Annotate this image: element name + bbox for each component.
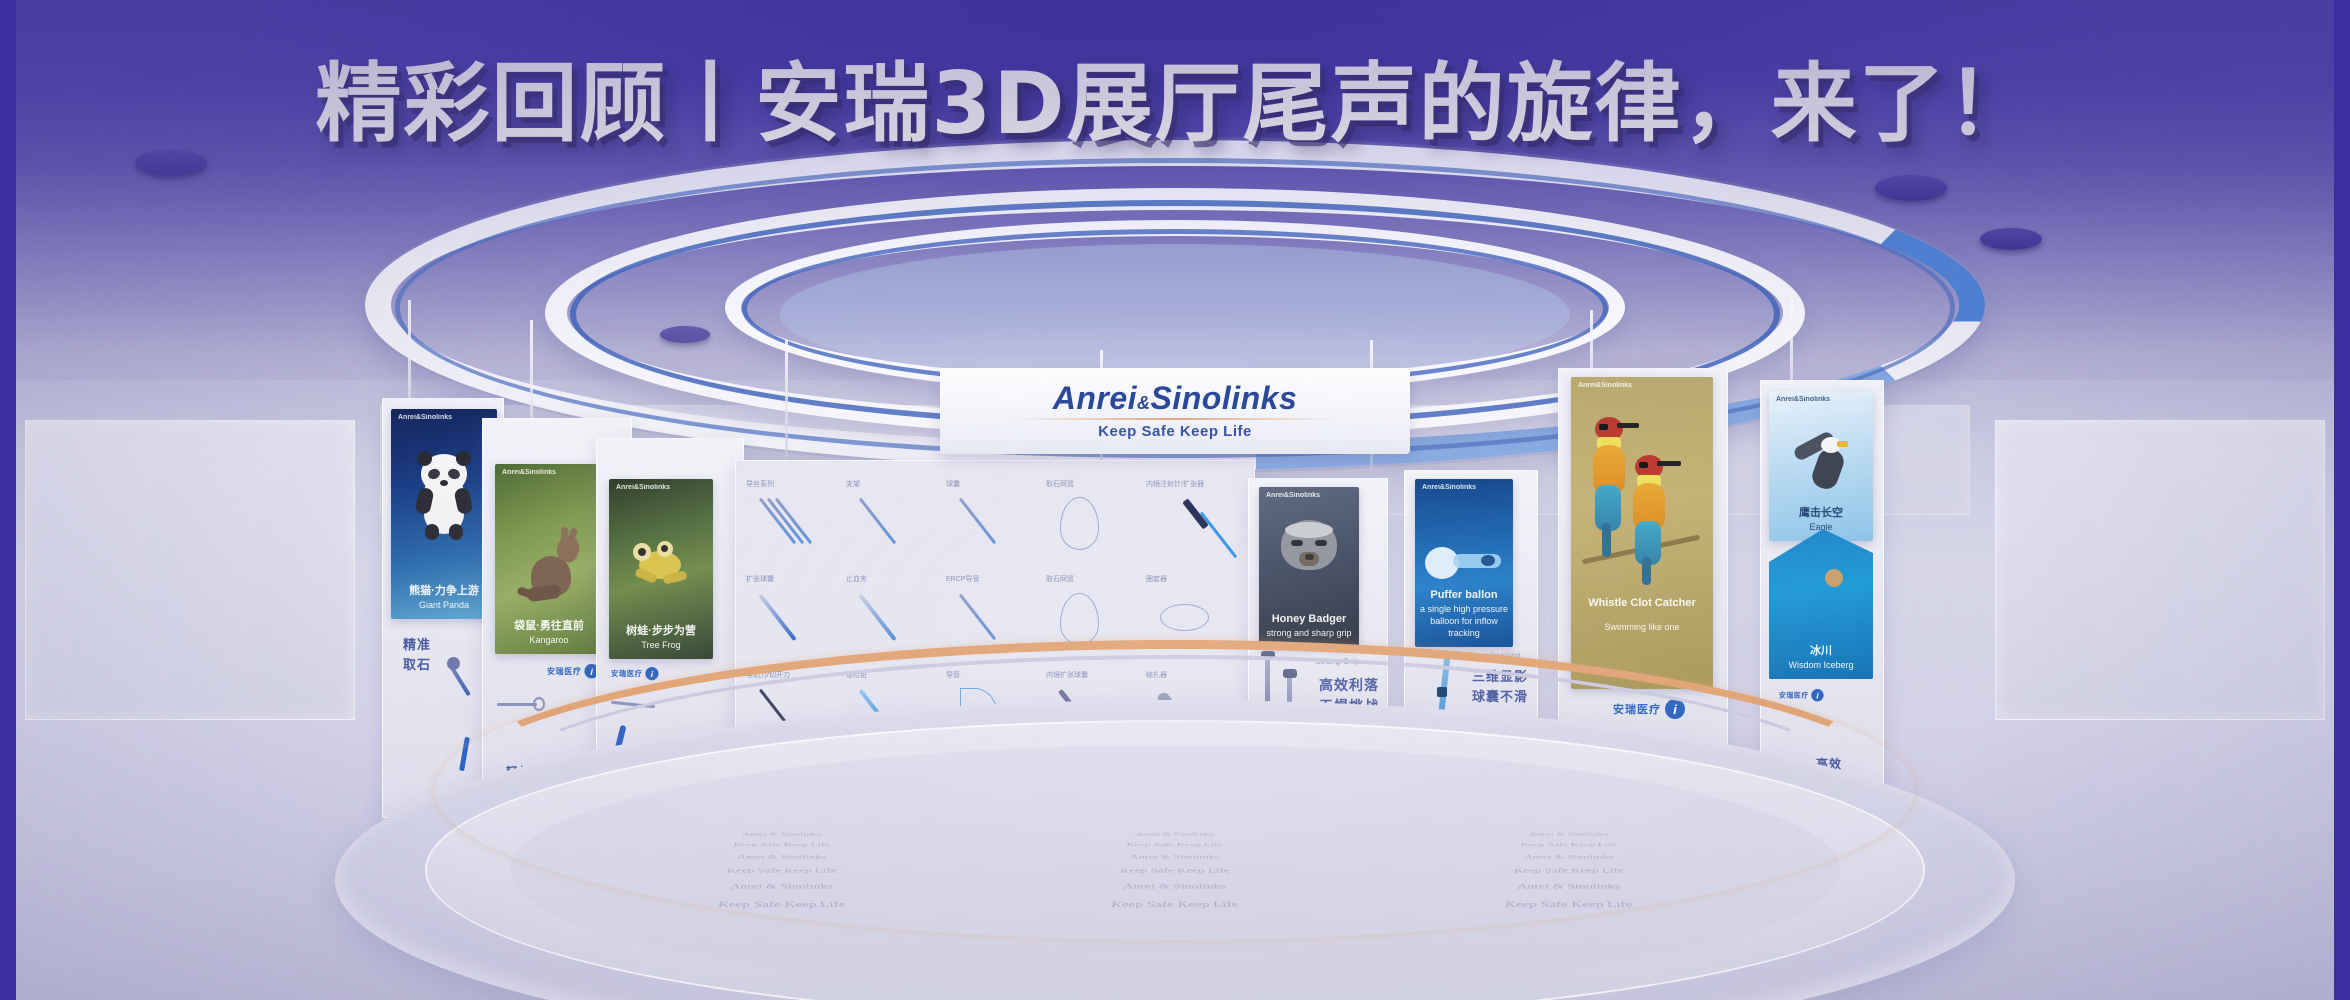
product-cell[interactable]: 球囊 xyxy=(946,473,1044,566)
brand-sign: Anrei&Sinolinks Keep Safe Keep Life xyxy=(940,368,1410,454)
product-caption: 内镜注射针/扩张器 xyxy=(1146,481,1204,488)
poster-frog[interactable]: Anrei&Sinolinks 树蛙·步步为营 Tree Frog xyxy=(609,479,713,659)
poster-subtitle-honey-badger: strong and sharp grip xyxy=(1259,627,1359,639)
product-device-icon xyxy=(960,497,1017,549)
bird-illustration-2 xyxy=(1627,455,1687,585)
poster-caption-puffer: Puffer ballon a single high pressure bal… xyxy=(1415,588,1513,639)
hanger-post-3 xyxy=(785,340,788,470)
poster-bee-eaters[interactable]: Anrei&Sinolinks xyxy=(1571,377,1713,689)
iceberg-sun xyxy=(1825,569,1843,587)
poster-brand-kangaroo: Anrei&Sinolinks xyxy=(502,469,556,476)
product-device-icon xyxy=(1185,497,1242,549)
info-badge-label-kangaroo: 安瑞医疗 xyxy=(547,665,582,677)
poster-caption-eagle: 鹰击长空 Eagle xyxy=(1769,506,1873,533)
product-device-icon xyxy=(860,593,917,645)
poster-kangaroo[interactable]: Anrei&Sinolinks 袋鼠·勇往直前 Kangaroo xyxy=(495,464,603,654)
left-border-strip xyxy=(0,0,16,1000)
info-badge-frog: 安瑞医疗 i xyxy=(611,667,659,680)
info-badge-label-eagle: 安瑞医疗 xyxy=(1779,690,1809,700)
product-device-icon xyxy=(1160,593,1217,645)
poster-caption-iceberg: 冰川 Wisdom Iceberg xyxy=(1769,644,1873,671)
poster-subtitle-kangaroo: Kangaroo xyxy=(495,634,603,646)
info-badge-eagle: 安瑞医疗 i xyxy=(1779,689,1824,701)
page-title: 精彩回顾丨安瑞3D展厅尾声的旋律，来了！ xyxy=(315,33,2034,158)
poster-title-puffer: Puffer ballon xyxy=(1415,588,1513,603)
product-caption: 取石网篮 xyxy=(1046,576,1074,583)
product-device-icon xyxy=(760,593,817,645)
poster-caption-bee-eaters: Whistle Clot Catcher Swimming like one xyxy=(1571,596,1713,633)
info-badge-label-frog: 安瑞医疗 xyxy=(611,668,643,679)
poster-brand-frog: Anrei&Sinolinks xyxy=(616,484,670,491)
poster-title-iceberg: 冰川 xyxy=(1769,644,1873,659)
product-cell[interactable]: 导丝系列 xyxy=(746,473,844,566)
info-icon-eagle: i xyxy=(1811,689,1823,701)
brand-name-part2: Sinolinks xyxy=(1151,380,1298,416)
product-device-icon xyxy=(760,497,817,549)
headline-band: 精彩回顾丨安瑞3D展厅尾声的旋律，来了！ xyxy=(0,0,2350,190)
poster-caption-frog: 树蛙·步步为营 Tree Frog xyxy=(609,624,713,651)
poster-iceberg[interactable]: 冰川 Wisdom Iceberg xyxy=(1769,529,1873,679)
poster-title-frog: 树蛙·步步为营 xyxy=(609,624,713,639)
brand-divider xyxy=(1010,418,1340,420)
product-cell[interactable]: 内镜注射针/扩张器 xyxy=(1146,473,1244,566)
product-device-icon xyxy=(860,497,917,549)
kiosk-label-panda: 精准 取石 xyxy=(391,635,443,674)
kangaroo-illustration xyxy=(517,530,589,618)
poster-honey-badger[interactable]: Anrei&Sinolinks Honey Badger strong and … xyxy=(1259,487,1359,647)
ceiling-light-3 xyxy=(1980,228,2042,250)
poster-caption-kangaroo: 袋鼠·勇往直前 Kangaroo xyxy=(495,619,603,646)
product-cell[interactable]: 取石网篮 xyxy=(1046,473,1144,566)
wall-panel-right xyxy=(1995,420,2325,720)
eagle-illustration xyxy=(1789,435,1859,505)
product-cell[interactable]: 扩张球囊 xyxy=(746,568,844,661)
poster-brand-eagle: Anrei&Sinolinks xyxy=(1776,396,1830,403)
poster-puffer[interactable]: Anrei&Sinolinks Puffer ballon a single h… xyxy=(1415,479,1513,647)
product-caption: 取石网篮 xyxy=(1046,481,1074,488)
right-border-strip xyxy=(2334,0,2350,1000)
honey-badger-illustration xyxy=(1273,520,1345,588)
poster-caption-honey-badger: Honey Badger strong and sharp grip xyxy=(1259,612,1359,639)
info-badge-kangaroo: 安瑞医疗 i xyxy=(547,664,599,678)
product-caption: 球囊 xyxy=(946,481,960,488)
product-device-icon xyxy=(1060,497,1117,549)
brand-name-part1: Anrei xyxy=(1053,380,1137,416)
product-caption: 圈套器 xyxy=(1146,576,1167,583)
info-icon-frog: i xyxy=(645,667,658,680)
puffer-illustration xyxy=(1421,537,1507,589)
poster-subtitle-bee-eaters: Swimming like one xyxy=(1571,621,1713,633)
product-caption: 导丝系列 xyxy=(746,481,774,488)
kiosk-label-panda-l1: 精准 xyxy=(391,635,443,655)
brand-tagline: Keep Safe Keep Life xyxy=(1098,423,1252,440)
poster-subtitle-puffer: a single high pressure balloon for inflo… xyxy=(1415,603,1513,639)
poster-brand-honey-badger: Anrei&Sinolinks xyxy=(1266,492,1320,499)
poster-brand-panda: Anrei&Sinolinks xyxy=(398,414,452,421)
poster-brand-bee-eaters: Anrei&Sinolinks xyxy=(1578,382,1632,389)
kiosk-label-panda-l2: 取石 xyxy=(391,655,443,675)
poster-title-eagle: 鹰击长空 xyxy=(1769,506,1873,521)
poster-title-honey-badger: Honey Badger xyxy=(1259,612,1359,627)
poster-subtitle-frog: Tree Frog xyxy=(609,639,713,651)
brand-ampersand: & xyxy=(1137,393,1151,413)
product-caption: ERCP导管 xyxy=(946,576,979,583)
product-device-icon xyxy=(960,593,1017,645)
poster-title-kangaroo: 袋鼠·勇往直前 xyxy=(495,619,603,634)
exhibition-banner: Anrei&Sinolinks Keep Safe Keep Life Anre… xyxy=(0,0,2350,1000)
product-device-icon xyxy=(1060,593,1117,645)
product-caption: 扩张球囊 xyxy=(746,576,774,583)
product-cell[interactable]: 支架 xyxy=(846,473,944,566)
poster-title-bee-eaters: Whistle Clot Catcher xyxy=(1571,596,1713,611)
frog-illustration xyxy=(627,537,697,597)
product-caption: 止血夹 xyxy=(846,576,867,583)
poster-eagle[interactable]: Anrei&Sinolinks 鹰击长空 Eagle xyxy=(1769,391,1873,541)
wall-panel-left xyxy=(25,420,355,720)
ceiling-ring-inner-accent xyxy=(742,229,1608,389)
brand-name: Anrei&Sinolinks xyxy=(1053,382,1298,414)
panda-illustration xyxy=(413,454,475,540)
floor-accent-arc-2 xyxy=(485,655,1865,925)
poster-brand-puffer: Anrei&Sinolinks xyxy=(1422,484,1476,491)
product-caption: 支架 xyxy=(846,481,860,488)
poster-subtitle-iceberg: Wisdom Iceberg xyxy=(1769,659,1873,671)
